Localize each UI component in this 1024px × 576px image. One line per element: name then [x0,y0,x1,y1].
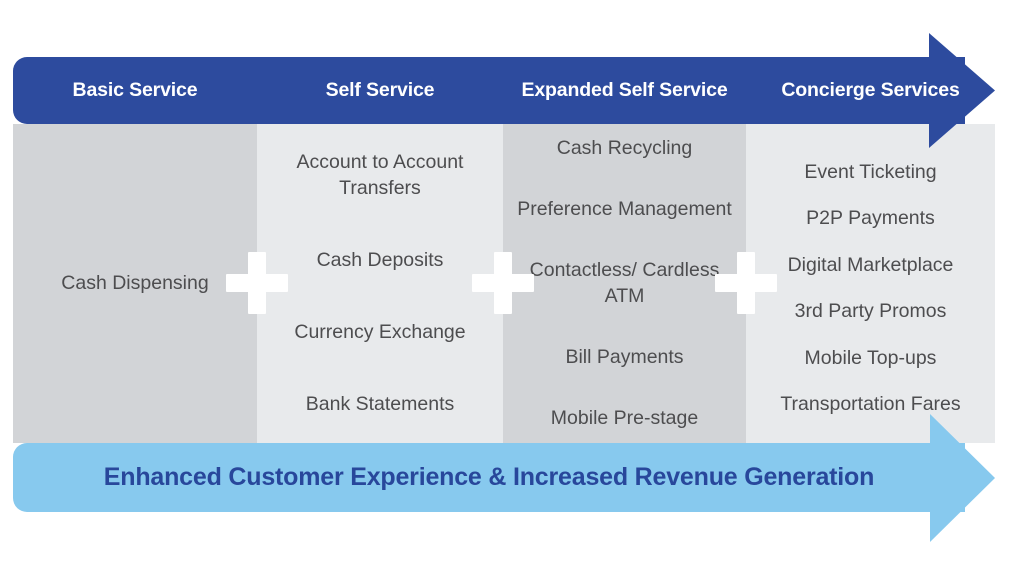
list-item: Account to Account Transfers [257,150,503,201]
list-item: Currency Exchange [288,320,471,346]
list-item: 3rd Party Promos [789,299,953,325]
list-item: Bill Payments [559,345,689,371]
list-item: Cash Recycling [551,136,698,162]
list-item: Preference Management [511,197,738,223]
diagram-canvas: Basic Service Self Service Expanded Self… [0,0,1024,576]
bottom-arrow-label: Enhanced Customer Experience & Increased… [13,443,965,512]
stage-header-basic-service: Basic Service [13,57,257,124]
column-items-self-service: Account to Account Transfers Cash Deposi… [257,150,503,418]
list-item: Contactless/ Cardless ATM [503,258,746,309]
list-item: Transportation Fares [774,392,966,418]
list-item: Digital Marketplace [782,253,960,279]
list-item: Event Ticketing [798,160,942,186]
stage-header-expanded-self-service: Expanded Self Service [503,57,746,124]
list-item: Bank Statements [300,392,461,418]
list-item: P2P Payments [800,206,941,232]
list-item: Cash Deposits [311,248,450,274]
stage-header-self-service: Self Service [257,57,503,124]
column-items-concierge-services: Event Ticketing P2P Payments Digital Mar… [746,160,995,418]
stage-header-concierge-services: Concierge Services [746,57,995,124]
list-item: Mobile Top-ups [799,346,943,372]
list-item: Cash Dispensing [55,271,214,297]
column-items-expanded-self-service: Cash Recycling Preference Management Con… [503,136,746,432]
column-items-basic-service: Cash Dispensing [13,124,257,443]
list-item: Mobile Pre-stage [545,406,704,432]
